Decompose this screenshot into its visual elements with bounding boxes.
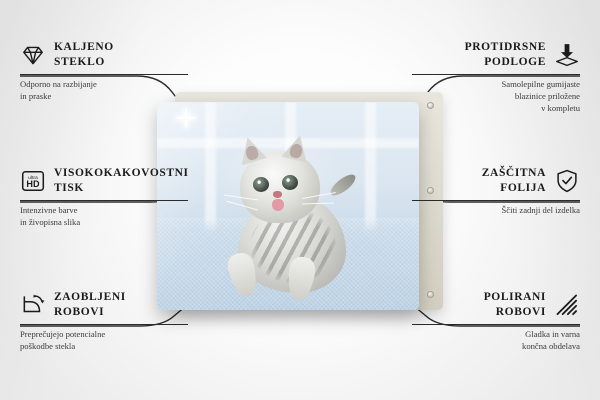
feature-polished-edges: POLIRANI ROBOVI Gladka in varna končna o… xyxy=(412,290,580,353)
rounded-corner-icon xyxy=(20,292,46,318)
arrow-onto-pad-icon xyxy=(554,42,580,68)
glass-panel xyxy=(157,102,419,310)
feature-title-line1: VISOKOKAKOVOSTNI xyxy=(54,166,189,181)
diagonal-hatch-icon xyxy=(554,292,580,318)
feature-tempered-glass: KALJENO STEKLO Odporno na razbijanje in … xyxy=(20,40,188,103)
feature-title-line2: ROBOVI xyxy=(484,305,546,320)
feature-title-line2: FOLIJA xyxy=(482,181,546,196)
feature-desc-line1: Gladka in varna xyxy=(412,329,580,341)
feature-title-line2: PODLOGE xyxy=(465,55,546,70)
feature-title-line2: STEKLO xyxy=(54,55,114,70)
feature-rule xyxy=(412,200,580,201)
feature-desc-line2: končna obdelava xyxy=(412,341,580,353)
feature-title-line1: KALJENO xyxy=(54,40,114,55)
infographic-canvas: KALJENO STEKLO Odporno na razbijanje in … xyxy=(0,0,600,400)
feature-desc-line1: Intenzivne barve xyxy=(20,205,188,217)
feature-desc-line1: Preprečujejo potencialne xyxy=(20,329,188,341)
feature-title-line2: TISK xyxy=(54,181,189,196)
product-image xyxy=(157,92,443,318)
kitten-illustration xyxy=(216,135,366,305)
ultra-hd-badge-icon: ultra HD xyxy=(20,168,46,194)
feature-title-line1: ZAOBLJENI xyxy=(54,290,126,305)
feature-title-line2: ROBOVI xyxy=(54,305,126,320)
kitten-photo xyxy=(157,102,419,310)
feature-rule xyxy=(20,200,188,201)
feature-desc-line3: v kompletu xyxy=(412,103,580,115)
feature-desc-line2: in praske xyxy=(20,91,188,103)
feature-desc-line2: in živopisna slika xyxy=(20,217,188,229)
feature-rule xyxy=(412,324,580,325)
feature-rule xyxy=(20,74,188,75)
feature-protective-film: ZAŠČITNA FOLIJA Ščiti zadnji del izdelka xyxy=(412,166,580,217)
feature-desc-line2: blazinice priložene xyxy=(412,91,580,103)
diamond-icon xyxy=(20,42,46,68)
feature-title-line1: PROTIDRSNE xyxy=(465,40,546,55)
feature-title-line1: POLIRANI xyxy=(484,290,546,305)
feature-anti-slip-pads: PROTIDRSNE PODLOGE Samolepilne gumijaste… xyxy=(412,40,580,114)
feature-desc-line2: poškodbe stekla xyxy=(20,341,188,353)
feature-rounded-edges: ZAOBLJENI ROBOVI Preprečujejo potencialn… xyxy=(20,290,188,353)
feature-title-line1: ZAŠČITNA xyxy=(482,166,546,181)
feature-desc-line1: Odporno na razbijanje xyxy=(20,79,188,91)
feature-desc-line1: Samolepilne gumijaste xyxy=(412,79,580,91)
feature-rule xyxy=(412,74,580,75)
hd-label: HD xyxy=(26,179,40,189)
shield-check-icon xyxy=(554,168,580,194)
feature-high-quality-print: ultra HD VISOKOKAKOVOSTNI TISK Intenzivn… xyxy=(20,166,188,229)
feature-rule xyxy=(20,324,188,325)
feature-desc-line1: Ščiti zadnji del izdelka xyxy=(412,205,580,217)
